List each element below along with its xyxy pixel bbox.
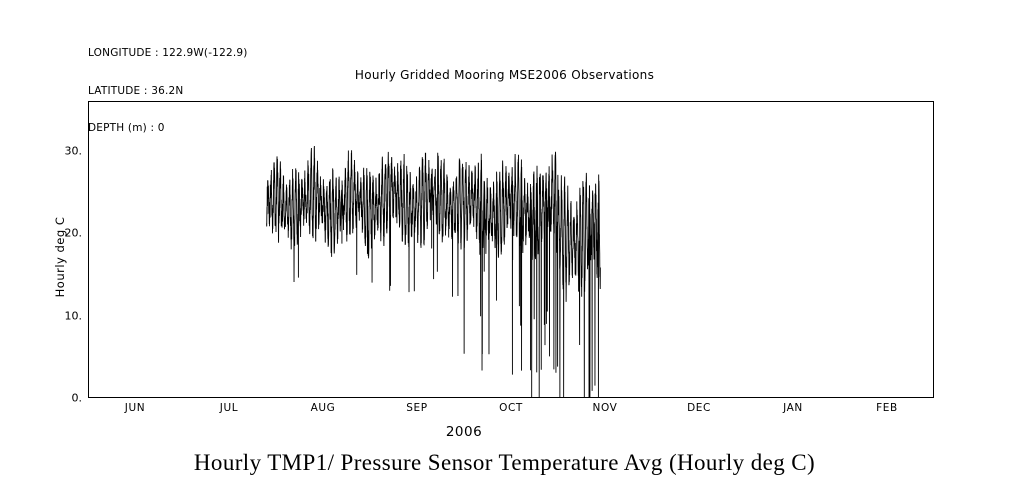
- plot-title: Hourly Gridded Mooring MSE2006 Observati…: [0, 68, 1009, 82]
- x-tick-label-feb: FEB: [876, 402, 898, 414]
- x-tick-label-nov: NOV: [593, 402, 618, 414]
- y-axis-title: Hourly deg C: [53, 187, 67, 327]
- latitude-text: LATITUDE : 36.2N: [88, 85, 248, 98]
- y-tick-label: 30.: [65, 144, 83, 157]
- y-tick-label: 10.: [65, 309, 83, 322]
- y-tick-label: 20.: [65, 227, 83, 240]
- figure-caption: Hourly TMP1/ Pressure Sensor Temperature…: [0, 450, 1009, 476]
- timeseries-plot: [88, 101, 934, 398]
- chart-page: LONGITUDE : 122.9W(-122.9) LATITUDE : 36…: [0, 0, 1009, 504]
- y-tick-label: 0.: [72, 392, 83, 405]
- x-tick-label-sep: SEP: [406, 402, 427, 414]
- x-tick-label-jul: JUL: [220, 402, 238, 414]
- longitude-text: LONGITUDE : 122.9W(-122.9): [88, 47, 248, 60]
- x-tick-label-jun: JUN: [125, 402, 145, 414]
- x-tick-label-oct: OCT: [499, 402, 523, 414]
- x-tick-label-jan: JAN: [783, 402, 803, 414]
- x-tick-label-aug: AUG: [311, 402, 336, 414]
- x-axis-title: 2006: [446, 424, 482, 440]
- x-tick-label-dec: DEC: [687, 402, 711, 414]
- y-axis-tick-labels: 0.10.20.30.: [0, 0, 82, 504]
